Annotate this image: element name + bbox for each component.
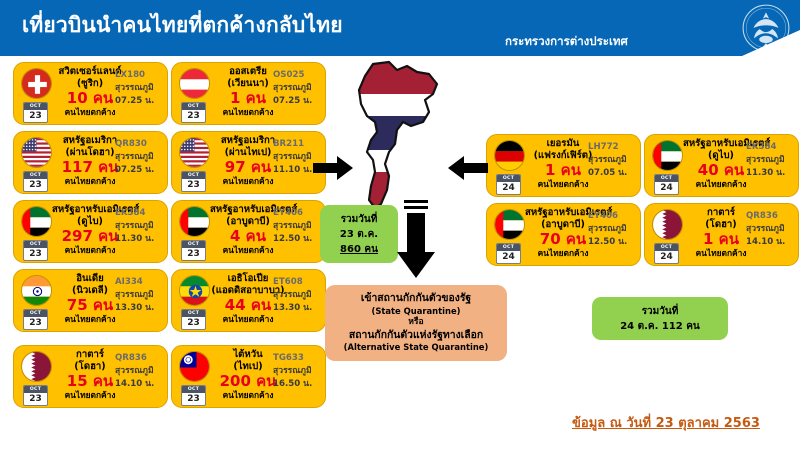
flight-card-details: EK384สุวรรณภูมิ11.30 น. — [115, 207, 162, 246]
stranded-label: คนไทยตกค้าง — [525, 179, 601, 190]
arrival-airport: สุวรรณภูมิ — [273, 289, 320, 302]
page-header: เที่ยวบินนำคนไทยที่ตกค้างกลับไทย กระทรวง… — [0, 0, 800, 56]
date-badge: OCT24 — [496, 243, 521, 264]
arrival-time: 14.10 น. — [115, 378, 162, 391]
garuda-emblem-icon — [738, 2, 794, 54]
date-badge-month: OCT — [24, 386, 47, 393]
flight-card-details: ET608สุวรรณภูมิ13.30 น. — [273, 276, 320, 315]
date-badge: OCT23 — [23, 385, 48, 406]
date-badge-day: 23 — [182, 317, 205, 330]
flight-card-details: EY406สุวรรณภูมิ12.50 น. — [273, 207, 320, 246]
date-badge-month: OCT — [24, 241, 47, 248]
date-badge: OCT24 — [654, 243, 679, 264]
summary-oct24-line1: รวมวันที่ — [642, 304, 679, 319]
flight-card-details: TG633สุวรรณภูมิ16.50 น. — [273, 352, 320, 391]
arrival-airport: สุวรรณภูมิ — [273, 365, 320, 378]
stranded-label: คนไทยตกค้าง — [52, 314, 128, 325]
arrival-airport: สุวรรณภูมิ — [273, 82, 320, 95]
stranded-label: คนไทยตกค้าง — [52, 245, 128, 256]
flight-number: AI334 — [115, 276, 162, 289]
date-badge-month: OCT — [182, 172, 205, 179]
date-badge-month: OCT — [182, 241, 205, 248]
date-badge-month: OCT — [182, 386, 205, 393]
date-badge-month: OCT — [655, 175, 678, 182]
flight-number: OS025 — [273, 69, 320, 82]
flight-card: OCT23สวิตเซอร์แลนด์(ซูริก)10 คนคนไทยตกค้… — [13, 62, 168, 125]
date-badge-month: OCT — [182, 103, 205, 110]
flight-number: QR836 — [746, 210, 793, 223]
summary-oct23-line2: 23 ต.ค. — [340, 227, 378, 242]
flight-number: QR830 — [115, 138, 162, 151]
flag-icon-germany — [494, 140, 525, 171]
flight-card: OCT23ไต้หวัน(ไทเป)200 คนคนไทยตกค้างTG633… — [171, 345, 326, 408]
flight-card: OCT23อินเดีย(นิวเดลี)75 คนคนไทยตกค้างAI3… — [13, 269, 168, 332]
date-badge: OCT23 — [23, 171, 48, 192]
flag-icon-qatar — [652, 209, 683, 240]
stranded-label: คนไทยตกค้าง — [525, 248, 601, 259]
date-badge: OCT23 — [181, 240, 206, 261]
arrival-time: 07.05 น. — [588, 167, 635, 180]
date-badge-day: 23 — [182, 248, 205, 261]
flight-number: QR836 — [115, 352, 162, 365]
flight-number: EY406 — [273, 207, 320, 220]
flight-card-details: EK384สุวรรณภูมิ11.30 น. — [746, 141, 793, 180]
date-badge-month: OCT — [655, 244, 678, 251]
flag-icon-india — [21, 275, 52, 306]
date-badge-day: 24 — [497, 251, 520, 264]
date-badge-day: 23 — [24, 317, 47, 330]
date-badge-day: 24 — [655, 251, 678, 264]
date-badge-day: 23 — [182, 110, 205, 123]
thailand-map — [337, 60, 463, 210]
flight-card-details: EY406สุวรรณภูมิ12.50 น. — [588, 210, 635, 249]
date-badge-day: 23 — [24, 393, 47, 406]
quarantine-line3: หรือ — [408, 317, 423, 329]
date-badge: OCT23 — [181, 102, 206, 123]
date-badge: OCT23 — [23, 240, 48, 261]
arrival-time: 12.50 น. — [273, 233, 320, 246]
flight-number: EK384 — [115, 207, 162, 220]
stranded-label: คนไทยตกค้าง — [210, 245, 286, 256]
flight-number: LX180 — [115, 69, 162, 82]
date-badge-month: OCT — [182, 310, 205, 317]
flight-number: ET608 — [273, 276, 320, 289]
arrival-time: 16.50 น. — [273, 378, 320, 391]
arrow-down-icon — [396, 200, 436, 280]
flag-icon-qatar — [21, 351, 52, 382]
date-badge-day: 24 — [655, 182, 678, 195]
arrival-time: 07.25 น. — [273, 95, 320, 108]
arrival-airport: สุวรรณภูมิ — [746, 223, 793, 236]
arrival-airport: สุวรรณภูมิ — [115, 151, 162, 164]
date-badge-month: OCT — [24, 172, 47, 179]
arrival-time: 13.30 น. — [115, 302, 162, 315]
flag-icon-uae — [21, 206, 52, 237]
flag-icon-usa — [179, 137, 210, 168]
stranded-label: คนไทยตกค้าง — [52, 176, 128, 187]
date-badge-day: 23 — [24, 110, 47, 123]
arrival-airport: สุวรรณภูมิ — [115, 289, 162, 302]
arrival-time: 11.30 น. — [746, 167, 793, 180]
flight-card: OCT24สหรัฐอาหรับเอมิเรตส์(ดูไบ)40 คนคนไท… — [644, 134, 799, 197]
arrival-time: 12.50 น. — [588, 236, 635, 249]
summary-oct23-line1: รวมวันที่ — [341, 212, 378, 227]
date-badge: OCT23 — [23, 309, 48, 330]
arrival-airport: สุวรรณภูมิ — [746, 154, 793, 167]
flight-card-details: LX180สุวรรณภูมิ07.25 น. — [115, 69, 162, 108]
data-as-of-note: ข้อมูล ณ วันที่ 23 ตุลาคม 2563 — [572, 412, 760, 433]
stranded-label: คนไทยตกค้าง — [210, 176, 286, 187]
date-badge: OCT23 — [181, 385, 206, 406]
arrival-airport: สุวรรณภูมิ — [115, 365, 162, 378]
flight-card: OCT24กาตาร์(โดฮา)1 คนคนไทยตกค้างQR836สุว… — [644, 203, 799, 266]
date-badge: OCT23 — [181, 171, 206, 192]
flight-number: EK384 — [746, 141, 793, 154]
flight-card: OCT23ออสเตรีย(เวียนนา)1 คนคนไทยตกค้างOS0… — [171, 62, 326, 125]
flag-icon-uae — [179, 206, 210, 237]
flight-card: OCT24สหรัฐอาหรับเอมิเรตส์(อาบูดาบี)70 คน… — [486, 203, 641, 266]
flight-card-details: OS025สุวรรณภูมิ07.25 น. — [273, 69, 320, 108]
stranded-label: คนไทยตกค้าง — [52, 390, 128, 401]
flight-number: EY406 — [588, 210, 635, 223]
date-badge: OCT24 — [496, 174, 521, 195]
arrival-time: 07.25 น. — [115, 95, 162, 108]
flight-number: TG633 — [273, 352, 320, 365]
flag-icon-austria — [179, 68, 210, 99]
flight-card: OCT23สหรัฐอเมริกา(ผ่านโดฮา)117 คนคนไทยตก… — [13, 131, 168, 194]
date-badge: OCT23 — [181, 309, 206, 330]
summary-oct23-total: 860 คน — [340, 242, 378, 257]
flag-icon-switzerland — [21, 68, 52, 99]
flight-card: OCT23สหรัฐอเมริกา(ผ่านไทเป)97 คนคนไทยตกค… — [171, 131, 326, 194]
flag-icon-ethiopia — [179, 275, 210, 306]
flight-card-details: LH772สุวรรณภูมิ07.05 น. — [588, 141, 635, 180]
flag-icon-uae — [494, 209, 525, 240]
flag-icon-taiwan — [179, 351, 210, 382]
flight-card-details: QR836สุวรรณภูมิ14.10 น. — [746, 210, 793, 249]
date-badge-month: OCT — [24, 310, 47, 317]
date-badge-day: 24 — [497, 182, 520, 195]
date-badge-day: 23 — [24, 248, 47, 261]
summary-oct23: รวมวันที่ 23 ต.ค. 860 คน — [320, 205, 398, 263]
summary-oct24: รวมวันที่ 24 ต.ค. 112 คน — [592, 297, 728, 340]
flight-card: OCT24เยอรมัน(แฟรงก์เฟิร์ต)1 คนคนไทยตกค้า… — [486, 134, 641, 197]
arrival-time: 14.10 น. — [746, 236, 793, 249]
arrival-time: 13.30 น. — [273, 302, 320, 315]
flight-card: OCT23กาตาร์(โดฮา)15 คนคนไทยตกค้างQR836สุ… — [13, 345, 168, 408]
quarantine-box: เข้าสถานกักกันตัวของรัฐ (State Quarantin… — [325, 285, 507, 361]
date-badge-day: 23 — [182, 179, 205, 192]
arrival-airport: สุวรรณภูมิ — [115, 82, 162, 95]
flight-card-details: QR830สุวรรณภูมิ07.25 น. — [115, 138, 162, 177]
arrival-time: 07.25 น. — [115, 164, 162, 177]
stranded-label: คนไทยตกค้าง — [683, 248, 759, 259]
stranded-label: คนไทยตกค้าง — [210, 314, 286, 325]
quarantine-line2: (State Quarantine) — [372, 306, 461, 318]
quarantine-line4: สถานกักกันตัวแห่งรัฐทางเลือก — [349, 329, 483, 343]
date-badge: OCT24 — [654, 174, 679, 195]
date-badge-day: 23 — [182, 393, 205, 406]
flight-card: OCT23สหรัฐอาหรับเอมิเรตส์(ดูไบ)297 คนคนไ… — [13, 200, 168, 263]
page-title: เที่ยวบินนำคนไทยที่ตกค้างกลับไทย — [22, 9, 343, 42]
date-badge-month: OCT — [24, 103, 47, 110]
ministry-label: กระทรวงการต่างประเทศ — [505, 33, 628, 51]
flight-number: BR211 — [273, 138, 320, 151]
flight-card-details: AI334สุวรรณภูมิ13.30 น. — [115, 276, 162, 315]
stranded-label: คนไทยตกค้าง — [210, 107, 286, 118]
flight-card-details: QR836สุวรรณภูมิ14.10 น. — [115, 352, 162, 391]
arrow-right-icon — [313, 155, 353, 181]
flight-card: OCT23เอธิโอเปีย(แอดดิสอาบาบา)44 คนคนไทยต… — [171, 269, 326, 332]
flag-icon-usa — [21, 137, 52, 168]
arrival-airport: สุวรรณภูมิ — [588, 223, 635, 236]
date-badge: OCT23 — [23, 102, 48, 123]
quarantine-line1: เข้าสถานกักกันตัวของรัฐ — [361, 292, 471, 306]
stranded-label: คนไทยตกค้าง — [683, 179, 759, 190]
flight-card: OCT23สหรัฐอาหรับเอมิเรตส์(อาบูดาบี)4 คนค… — [171, 200, 326, 263]
arrival-airport: สุวรรณภูมิ — [588, 154, 635, 167]
flag-icon-uae — [652, 140, 683, 171]
arrival-airport: สุวรรณภูมิ — [273, 220, 320, 233]
arrival-time: 11.30 น. — [115, 233, 162, 246]
flight-number: LH772 — [588, 141, 635, 154]
summary-oct24-total: 24 ต.ค. 112 คน — [620, 319, 700, 334]
arrow-left-icon — [448, 155, 488, 181]
quarantine-line5: (Alternative State Quarantine) — [344, 342, 489, 354]
date-badge-month: OCT — [497, 244, 520, 251]
stranded-label: คนไทยตกค้าง — [52, 107, 128, 118]
stranded-label: คนไทยตกค้าง — [210, 390, 286, 401]
arrival-airport: สุวรรณภูมิ — [115, 220, 162, 233]
date-badge-month: OCT — [497, 175, 520, 182]
date-badge-day: 23 — [24, 179, 47, 192]
